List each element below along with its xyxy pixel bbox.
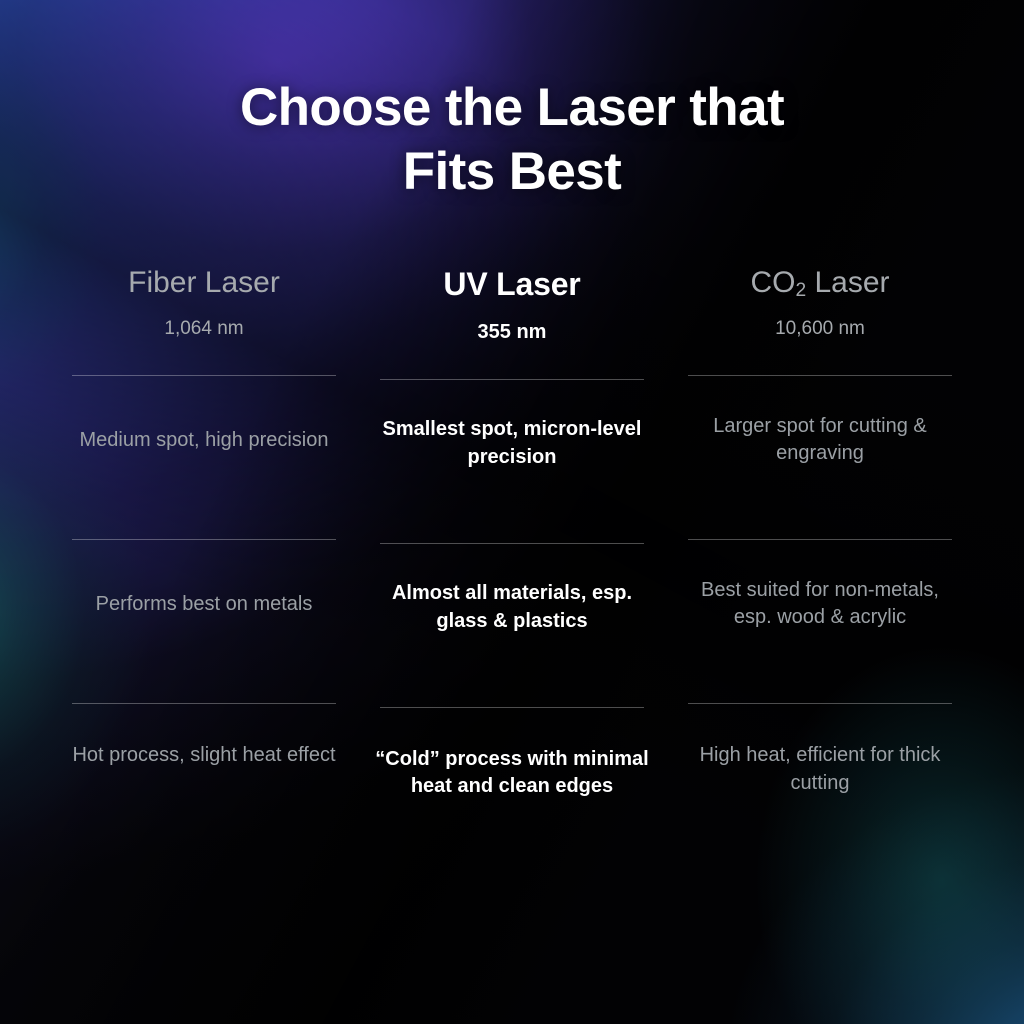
cell-uv-precision: Smallest spot, micron-level precision — [372, 380, 652, 508]
page-title: Choose the Laser that Fits Best — [64, 0, 960, 203]
column-header-fiber: Fiber Laser 1,064 nm — [64, 267, 344, 340]
comparison-column-co2: CO2 Laser 10,600 nm Larger spot for cutt… — [680, 267, 960, 896]
column-title-co2-tail: Laser — [806, 266, 889, 299]
cell-fiber-materials: Performs best on metals — [64, 540, 344, 668]
column-wavelength-uv: 355 nm — [378, 320, 646, 344]
cell-uv-heat: “Cold” process with minimal heat and cle… — [372, 708, 652, 896]
column-title-uv: UV Laser — [378, 267, 646, 302]
column-header-uv: UV Laser 355 nm — [372, 267, 652, 344]
cell-uv-materials: Almost all materials, esp. glass & plast… — [372, 544, 652, 672]
laser-comparison-graphic: Choose the Laser that Fits Best Fiber La… — [0, 0, 1024, 1024]
column-title-co2-subscript: 2 — [795, 280, 806, 301]
cell-co2-heat: High heat, efficient for thick cutting — [680, 704, 960, 892]
column-title-co2-main: CO — [750, 266, 795, 299]
column-title-fiber: Fiber Laser — [70, 267, 338, 299]
cell-fiber-heat: Hot process, slight heat effect — [64, 704, 344, 892]
cell-fiber-precision: Medium spot, high precision — [64, 376, 344, 504]
column-header-co2: CO2 Laser 10,600 nm — [680, 267, 960, 340]
column-wavelength-co2: 10,600 nm — [686, 318, 954, 341]
column-title-co2: CO2 Laser — [686, 267, 954, 299]
page-title-line-1: Choose the Laser that — [64, 76, 960, 140]
cell-co2-materials: Best suited for non-metals, esp. wood & … — [680, 540, 960, 668]
cell-co2-precision: Larger spot for cutting & engraving — [680, 376, 960, 504]
comparison-table: Fiber Laser 1,064 nm Medium spot, high p… — [64, 267, 960, 896]
comparison-column-fiber: Fiber Laser 1,064 nm Medium spot, high p… — [64, 267, 344, 896]
content-area: Choose the Laser that Fits Best Fiber La… — [0, 0, 1024, 1024]
page-title-line-2: Fits Best — [64, 140, 960, 204]
comparison-column-uv: UV Laser 355 nm Smallest spot, micron-le… — [372, 267, 652, 896]
column-wavelength-fiber: 1,064 nm — [70, 318, 338, 341]
